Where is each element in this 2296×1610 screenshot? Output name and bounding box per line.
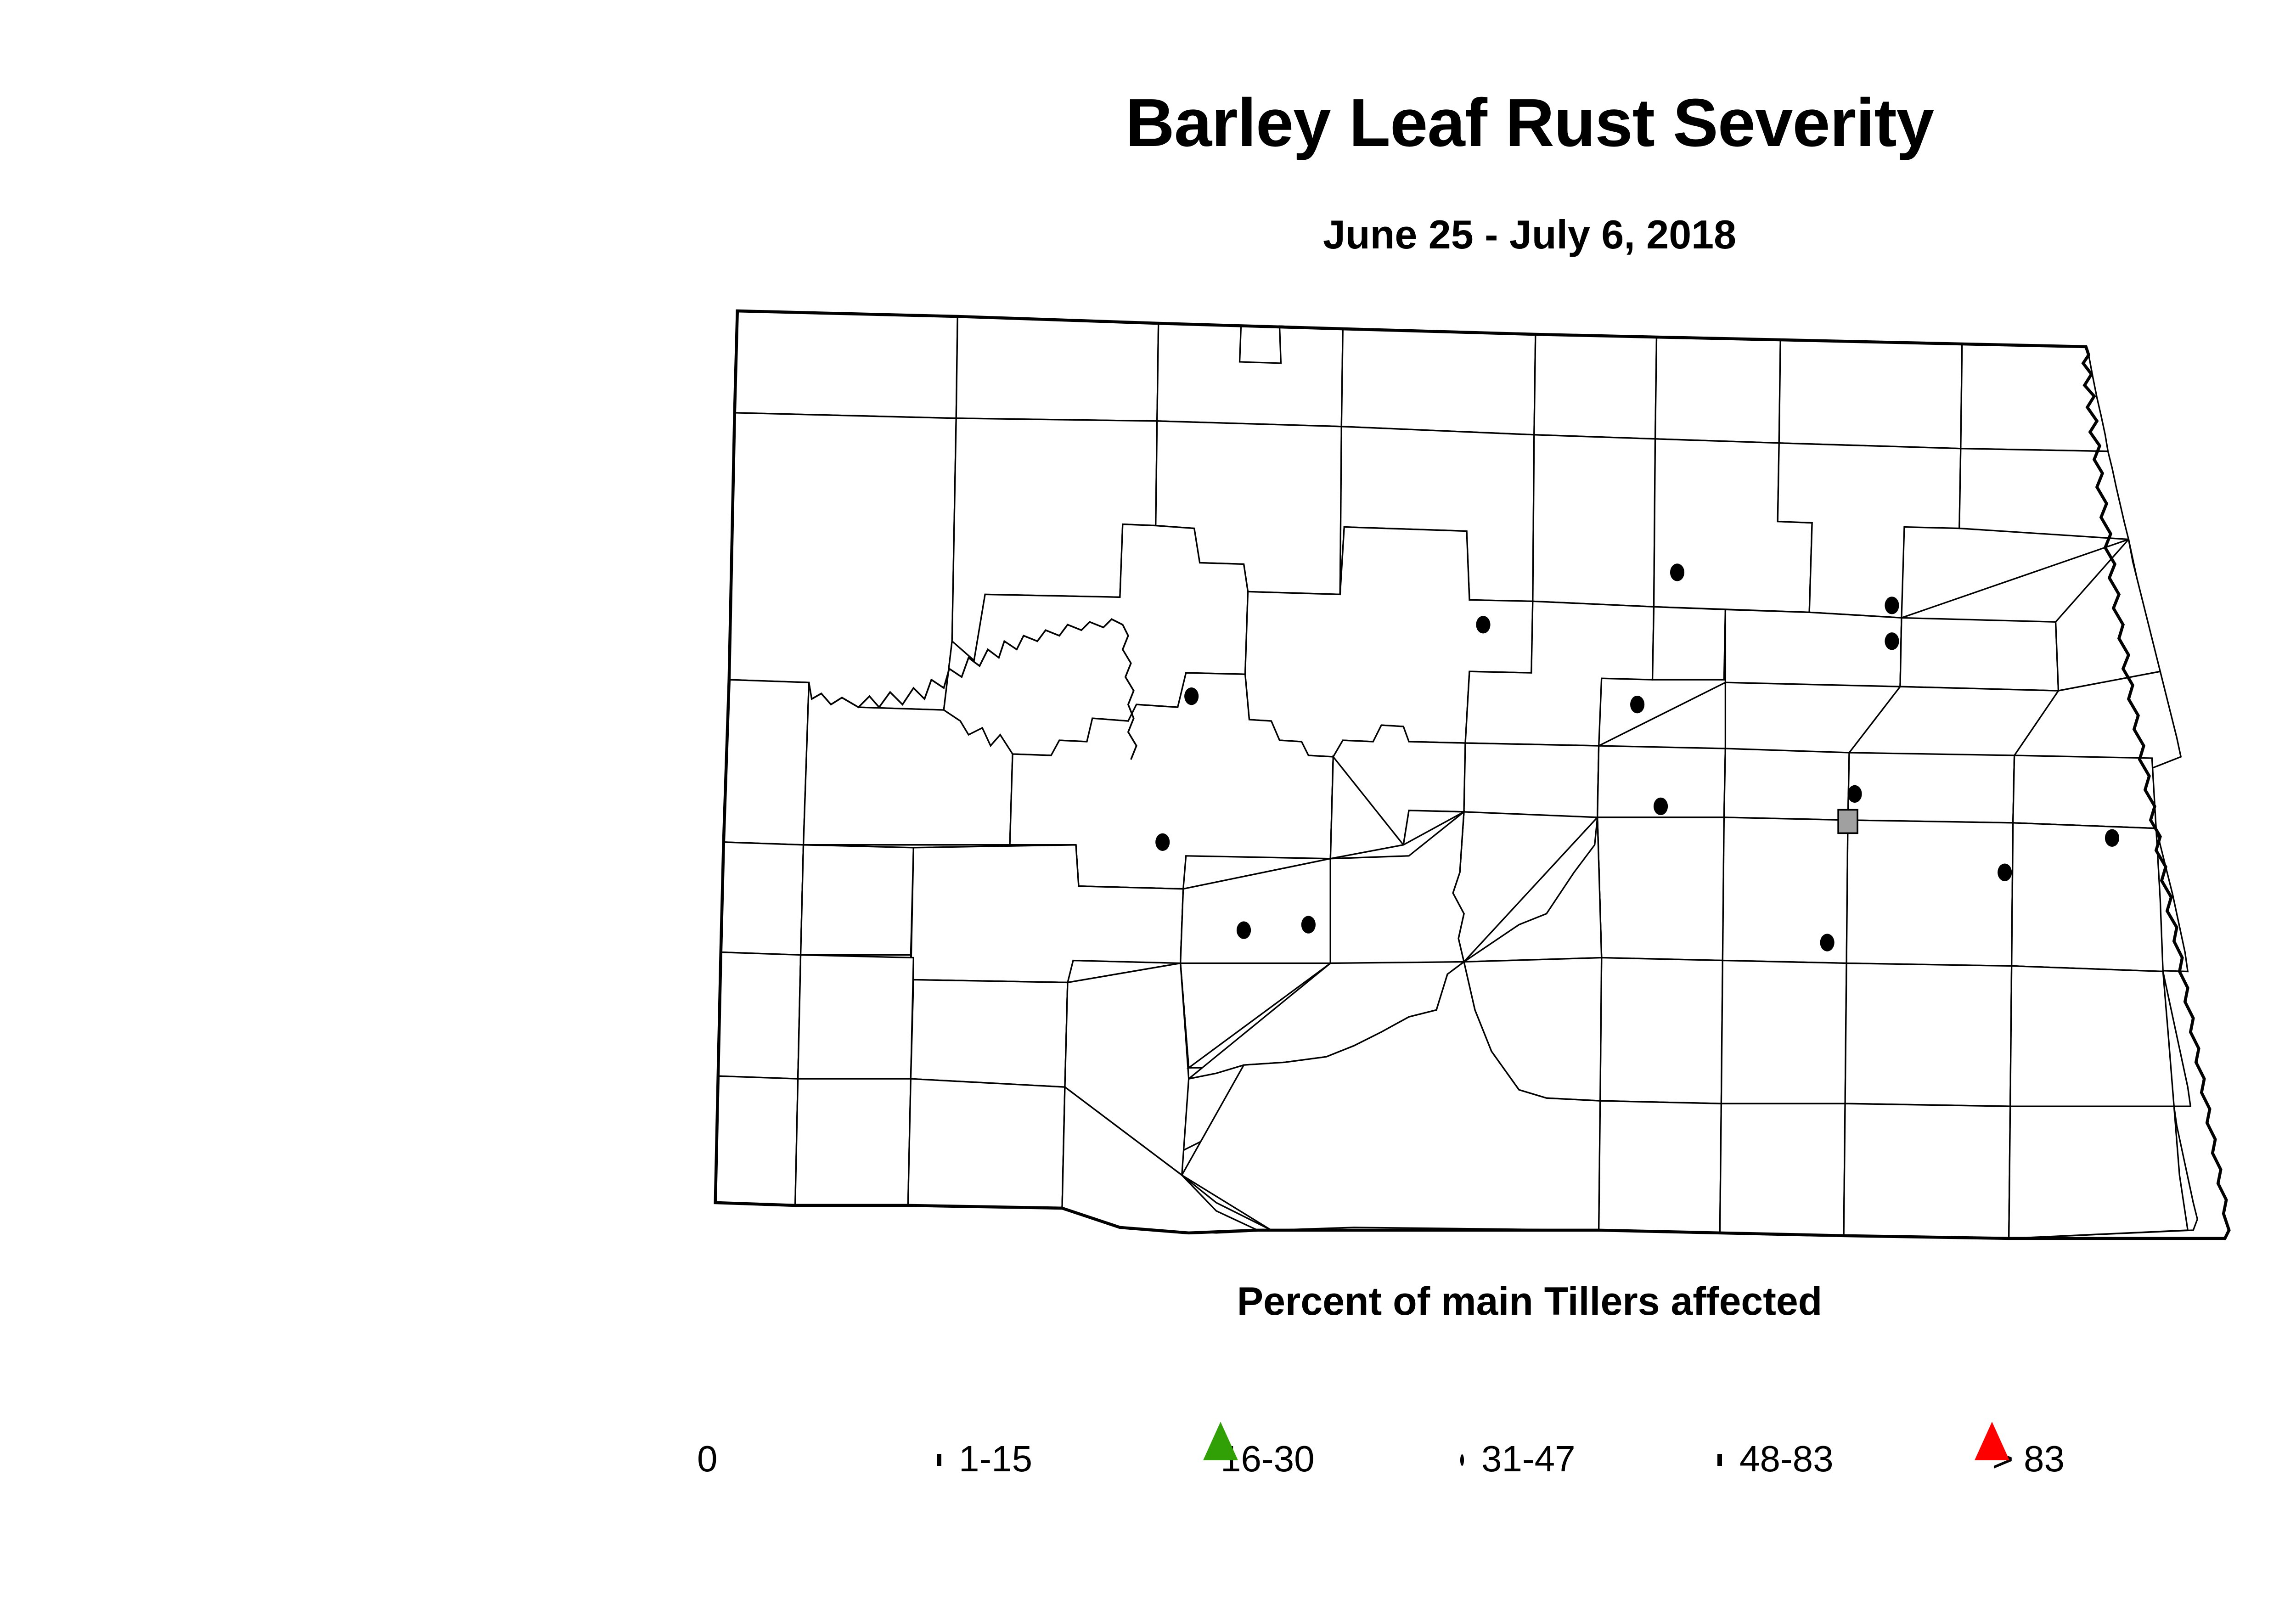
map-marker[interactable] [2105, 829, 2119, 847]
map-marker[interactable] [1301, 916, 1316, 933]
legend-label: 1-15 [959, 1441, 1032, 1480]
map-marker[interactable] [1838, 810, 1857, 833]
map-marker[interactable] [1847, 785, 1862, 803]
legend-item[interactable]: 16-30 [1203, 1424, 1315, 1497]
map-figure: Barley Leaf Rust Severity June 25 - July… [0, 0, 2296, 1610]
legend-symbol-square-icon [1717, 1456, 1722, 1464]
page-title: Barley Leaf Rust Severity [0, 87, 2296, 158]
legend-symbol-square-icon [937, 1456, 941, 1464]
map-caption: Percent of main Tillers affected [0, 1279, 2296, 1324]
map-marker[interactable] [1670, 563, 1684, 581]
map-marker[interactable] [1654, 798, 1668, 815]
map-marker[interactable] [1630, 696, 1644, 713]
legend-item[interactable]: 31-47 [1460, 1424, 1576, 1497]
county-boundaries [715, 311, 2197, 1238]
legend-label: 48-83 [1739, 1441, 1834, 1480]
legend-item[interactable]: 1-15 [937, 1424, 1032, 1497]
legend-item[interactable]: 0 [680, 1424, 718, 1497]
legend: 01-1516-3031-4748-83> 83 [680, 1424, 2241, 1506]
map-marker[interactable] [1237, 921, 1251, 939]
legend-item[interactable]: > 83 [1975, 1424, 2065, 1497]
north-dakota-county-map[interactable] [638, 266, 2296, 1258]
map-marker[interactable] [1885, 597, 1899, 614]
map-marker[interactable] [1476, 616, 1490, 633]
map-marker[interactable] [1184, 687, 1199, 705]
legend-label: 31-47 [1481, 1441, 1576, 1480]
legend-label: 0 [697, 1441, 718, 1480]
map-marker[interactable] [1155, 833, 1170, 851]
map-marker[interactable] [1820, 934, 1835, 951]
legend-symbol-circle-icon [1460, 1456, 1464, 1464]
map-svg [638, 266, 2296, 1258]
page-subtitle: June 25 - July 6, 2018 [0, 211, 2296, 258]
map-marker[interactable] [1885, 632, 1899, 650]
legend-item[interactable]: 48-83 [1717, 1424, 1834, 1497]
map-marker[interactable] [1998, 864, 2012, 881]
